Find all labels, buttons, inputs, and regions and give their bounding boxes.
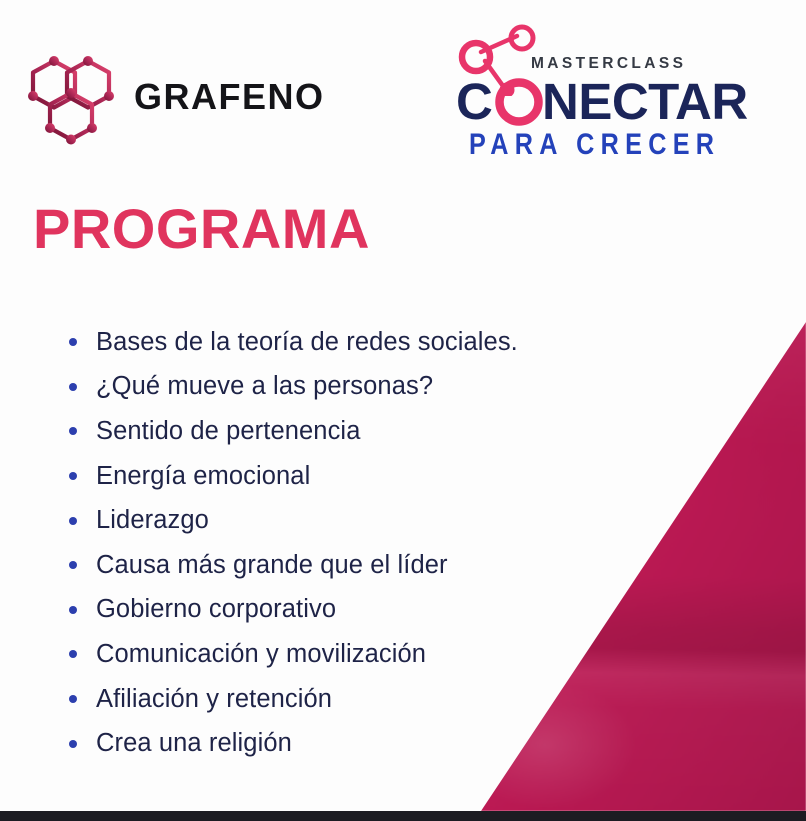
grafeno-logo: GRAFENO: [28, 48, 325, 146]
list-item: Gobierno corporativo: [66, 588, 626, 633]
list-item-label: Comunicación y movilización: [96, 640, 426, 669]
list-item-label: Energía emocional: [96, 462, 310, 491]
bullet-icon: [69, 338, 77, 346]
list-item-label: Causa más grande que el líder: [96, 551, 448, 580]
bottom-bar: [0, 811, 806, 821]
list-item: Energía emocional: [66, 454, 626, 499]
slide-canvas: GRAFENO MASTERCLASS C NECTAR PARA CRECER…: [0, 0, 806, 821]
conectar-masterclass-logo: MASTERCLASS C NECTAR PARA CRECER: [455, 24, 755, 164]
conectar-letter-c: C: [456, 76, 492, 126]
bullet-icon: [69, 695, 77, 703]
list-item: Sentido de pertenencia: [66, 409, 626, 454]
list-item-label: Bases de la teoría de redes sociales.: [96, 328, 518, 357]
list-item-label: Gobierno corporativo: [96, 595, 336, 624]
bullet-icon: [69, 383, 77, 391]
list-item-label: ¿Qué mueve a las personas?: [96, 372, 433, 401]
hexagon-network-icon: [28, 48, 120, 146]
program-list: Bases de la teoría de redes sociales. ¿Q…: [66, 320, 626, 766]
conectar-letters-nectar: NECTAR: [542, 76, 748, 126]
list-item: Causa más grande que el líder: [66, 543, 626, 588]
conectar-letter-o-ring: [500, 83, 539, 122]
list-item: Comunicación y movilización: [66, 632, 626, 677]
page-title: PROGRAMA: [33, 196, 370, 261]
masterclass-eyebrow: MASTERCLASS: [531, 55, 686, 73]
list-item-label: Crea una religión: [96, 729, 292, 758]
bullet-icon: [69, 606, 77, 614]
bullet-icon: [69, 740, 77, 748]
list-item: ¿Qué mueve a las personas?: [66, 365, 626, 410]
list-item-label: Liderazgo: [96, 506, 209, 535]
list-item: Liderazgo: [66, 498, 626, 543]
bullet-icon: [69, 427, 77, 435]
list-item-label: Afiliación y retención: [96, 685, 332, 714]
list-item: Afiliación y retención: [66, 677, 626, 722]
list-item: Bases de la teoría de redes sociales.: [66, 320, 626, 365]
bullet-icon: [69, 517, 77, 525]
grafeno-wordmark: GRAFENO: [134, 76, 325, 118]
conectar-wordmark: C NECTAR: [456, 76, 756, 126]
bullet-icon: [69, 472, 77, 480]
list-item: Crea una religión: [66, 721, 626, 766]
bullet-icon: [69, 650, 77, 658]
para-crecer-subtitle: PARA CRECER: [469, 128, 720, 162]
bullet-icon: [69, 561, 77, 569]
list-item-label: Sentido de pertenencia: [96, 417, 360, 446]
